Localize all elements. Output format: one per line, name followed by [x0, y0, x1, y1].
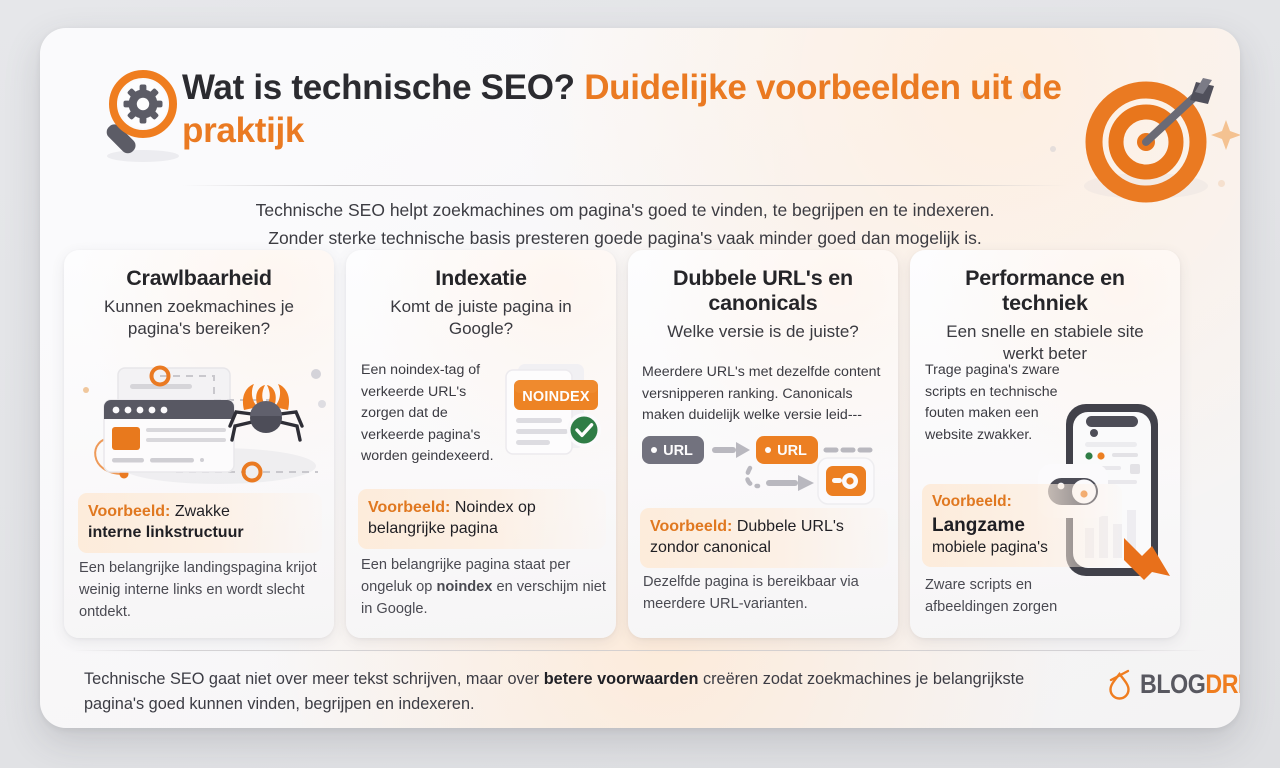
footer-text: Technische SEO gaat niet over meer tekst… — [84, 667, 1044, 718]
water-drop-icon — [1106, 668, 1133, 700]
bullseye-target-arrow-icon — [1062, 68, 1240, 218]
footer: Technische SEO gaat niet over meer tekst… — [64, 650, 1216, 716]
page-title: Wat is technische SEO? Duidelijke voorbe… — [182, 66, 1082, 153]
example-box: Voorbeeld: Dubbele URL's zondor canonica… — [640, 508, 888, 568]
example-text-tail: mobiele pagina's — [932, 539, 1048, 556]
example-text-strong: belangrijke pagina — [368, 520, 498, 537]
card-title: Dubbele URL's en canonicals — [643, 266, 883, 316]
card-body: Meerdere URL's met dezelfde content vers… — [642, 362, 894, 427]
example-label: Voorbeeld: — [932, 493, 1012, 510]
svg-text:URL: URL — [777, 443, 807, 459]
card-subtitle: Een snelle en stabiele site werkt beter — [925, 321, 1165, 365]
card-note: Een belangrijke landingspagina krijot we… — [79, 558, 323, 624]
example-box: Voorbeeld: Noindex op belangrijke pagina — [358, 489, 606, 549]
infographic-panel: Wat is technische SEO? Duidelijke voorbe… — [40, 28, 1240, 728]
title-primary: Wat is technische SEO? — [182, 68, 584, 107]
svg-text:NOINDEX: NOINDEX — [522, 389, 590, 405]
card-note: Dezelfde pagina is bereikbaar via meerde… — [643, 572, 889, 616]
card-title: Crawlbaarheid — [79, 266, 319, 291]
logo-wordmark: BLOGDRIP — [1140, 671, 1240, 698]
footer-text-pre: Technische SEO gaat niet over meer tekst… — [84, 670, 544, 688]
example-box: Voorbeeld: Langzame mobiele pagina's — [922, 484, 1122, 567]
card-note: Zware scripts en afbeeldingen zorgen — [925, 575, 1085, 619]
card-body: Trage pagina's zware scripts en technisc… — [925, 360, 1070, 446]
subtitle-line-1: Technische SEO helpt zoekmachines om pag… — [180, 196, 1070, 224]
magnifier-gear-icon — [95, 64, 187, 168]
example-text: Zwakke — [170, 503, 230, 520]
card-subtitle: Kunnen zoekmachines je pagina's bereiken… — [79, 296, 319, 340]
example-label: Voorbeeld: — [650, 518, 732, 535]
card-subtitle: Welke versie is de juiste? — [643, 321, 883, 343]
header-subtitle: Technische SEO helpt zoekmachines om pag… — [180, 196, 1070, 253]
header: Wat is technische SEO? Duidelijke voorbe… — [40, 28, 1240, 238]
card-performance-techniek[interactable]: Performance en techniek Een snelle en st… — [910, 250, 1180, 638]
logo-blog: BLOG — [1140, 669, 1205, 699]
example-text-strong: zondor canonical — [650, 539, 771, 556]
card-note: Een belangrijke pagina staat per ongeluk… — [361, 555, 607, 621]
infographic-canvas: Wat is technische SEO? Duidelijke voorbe… — [0, 0, 1280, 768]
example-box: Voorbeeld: Zwakke interne linkstructuur — [78, 493, 322, 553]
card-body: Een noindex-tag of verkeerde URL's zorge… — [361, 360, 501, 468]
footer-text-bold: betere voorwaarden — [544, 670, 699, 688]
card-dubbele-urls-canonicals[interactable]: Dubbele URL's en canonicals Welke versie… — [628, 250, 898, 638]
footer-divider — [72, 650, 1208, 651]
card-crawlbaarheid[interactable]: Crawlbaarheid Kunnen zoekmachines je pag… — [64, 250, 334, 638]
example-text: Dubbele URL's — [732, 518, 844, 535]
brand-logo[interactable]: BLOGDRIP — [1106, 668, 1240, 700]
url-canonical-redirect-diagram-icon: URL URL — [640, 428, 890, 512]
example-text: Noindex op — [450, 499, 535, 516]
noindex-document-check-icon: NOINDEX — [496, 358, 616, 474]
subtitle-line-2: Zonder sterke technische basis presteren… — [180, 224, 1070, 252]
note-bold: noindex — [436, 579, 492, 595]
cards-row: Crawlbaarheid Kunnen zoekmachines je pag… — [64, 250, 1216, 640]
logo-drip: DRIP — [1205, 669, 1240, 699]
browser-window-spider-crawler-icon — [68, 354, 332, 489]
example-text-strong: Langzame — [932, 515, 1025, 536]
example-text-strong: interne linkstructuur — [88, 524, 244, 541]
title-divider — [182, 185, 1067, 186]
example-label: Voorbeeld: — [88, 503, 170, 520]
card-title: Performance en techniek — [925, 266, 1165, 316]
card-title: Indexatie — [361, 266, 601, 291]
svg-text:URL: URL — [663, 443, 693, 459]
card-indexatie[interactable]: Indexatie Komt de juiste pagina in Googl… — [346, 250, 616, 638]
card-subtitle: Komt de juiste pagina in Google? — [361, 296, 601, 340]
example-label: Voorbeeld: — [368, 499, 450, 516]
